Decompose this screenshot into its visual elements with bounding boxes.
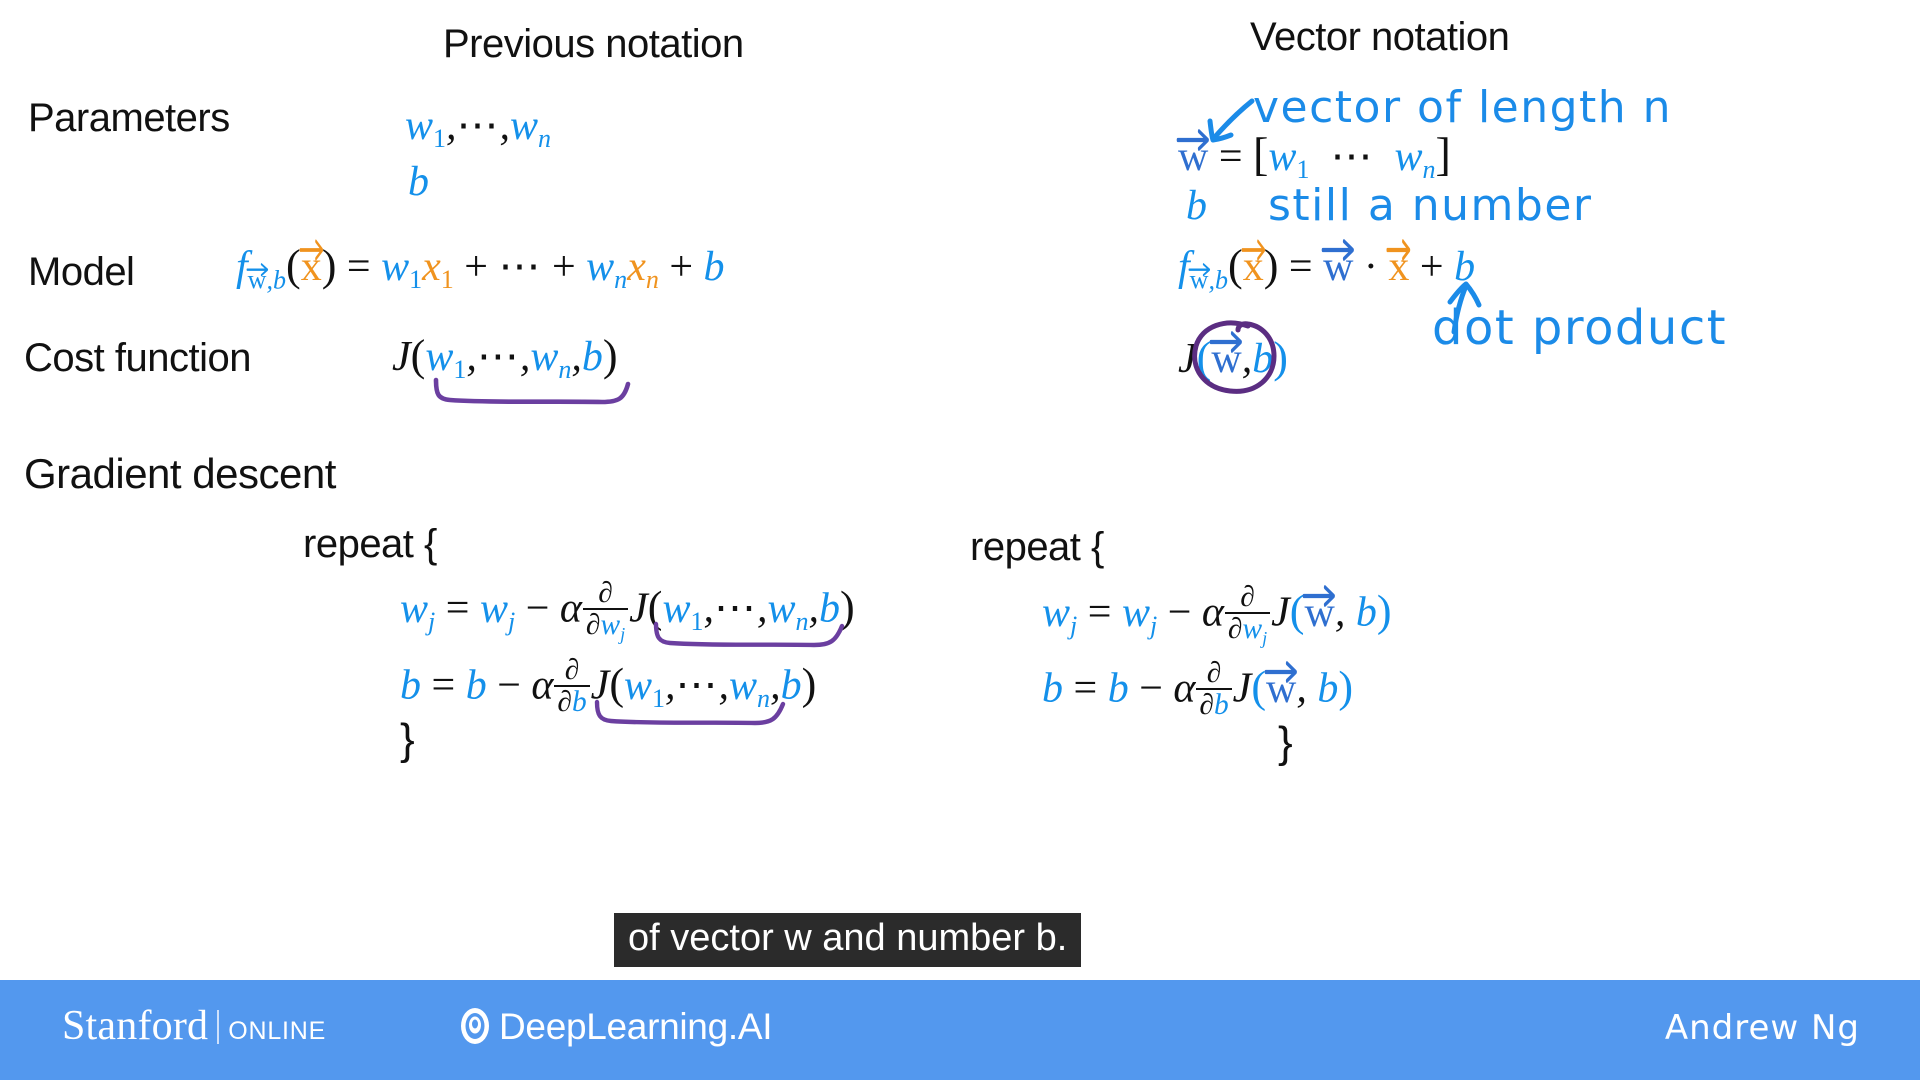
partial-derivative-b-right: ∂∂b bbox=[1196, 658, 1231, 720]
symbol-x-vector: x bbox=[301, 244, 322, 290]
slide-canvas: Previous notation Vector notation Parame… bbox=[0, 0, 1920, 1080]
repeat-open-right: repeat { bbox=[970, 525, 1104, 570]
logo-divider bbox=[217, 1010, 219, 1044]
math-left-parameters-b: b bbox=[408, 158, 429, 206]
handwriting-still-a-number: still a number bbox=[1268, 180, 1593, 231]
cost-w-vector: w bbox=[1211, 336, 1241, 382]
presenter-name: Andrew Ng bbox=[1665, 1008, 1860, 1048]
subscript-w-vector-b: w,b bbox=[248, 264, 286, 296]
math-left-parameters-w: w1,⋯,wn bbox=[405, 100, 551, 154]
math-right-parameters-w: w = [w1 ⋯ wn] bbox=[1178, 128, 1451, 185]
math-right-model: fw,b(x) = w · x + b bbox=[1178, 240, 1475, 295]
vector-arrow-w: w bbox=[248, 264, 267, 296]
handwriting-dot-product: dot product bbox=[1432, 300, 1727, 356]
dot-product-operator: · bbox=[1364, 244, 1378, 290]
row-label-parameters: Parameters bbox=[28, 96, 230, 141]
deeplearning-circles-icon bbox=[455, 1006, 495, 1055]
cost-b: b bbox=[582, 334, 603, 380]
term-x1: x1 bbox=[422, 244, 454, 290]
symbol-alpha: α bbox=[560, 586, 582, 632]
model-x-vector: x bbox=[1388, 244, 1409, 290]
row-label-cost-function: Cost function bbox=[24, 336, 251, 381]
repeat-close-right: } bbox=[1278, 718, 1293, 768]
footer-bar: StanfordONLINE DeepLearning.AI Andrew Ng bbox=[0, 980, 1920, 1080]
gd-b-lhs: b bbox=[400, 663, 421, 709]
handwriting-vector-of-length-n: vector of length n bbox=[1253, 82, 1672, 133]
column-heading-vector-notation: Vector notation bbox=[1250, 15, 1509, 60]
math-left-gd-b: b = b − α∂∂bJ(w1,⋯,wn,b) bbox=[400, 655, 816, 717]
math-right-gd-b: b = b − α∂∂bJ(w, b) bbox=[1042, 658, 1353, 720]
repeat-open-left: repeat { bbox=[303, 522, 437, 567]
model-w-vector: w bbox=[1323, 244, 1353, 290]
cost-w1: w1 bbox=[425, 334, 466, 380]
repeat-close-left: } bbox=[400, 715, 415, 765]
subtitle-caption: of vector w and number b. bbox=[614, 913, 1081, 967]
gd-wj-lhs: wj bbox=[400, 586, 435, 632]
term-b: b bbox=[704, 244, 725, 290]
math-right-parameters-b: b bbox=[1186, 182, 1207, 230]
deeplearning-wordmark: DeepLearning.AI bbox=[499, 1006, 772, 1047]
stanford-online-logo: StanfordONLINE bbox=[62, 1002, 326, 1050]
term-xn: xn bbox=[627, 244, 659, 290]
gd-wj-rhs: wj bbox=[480, 586, 515, 632]
cost-wn: wn bbox=[530, 334, 571, 380]
math-left-cost: J(w1,⋯,wn,b) bbox=[392, 330, 618, 385]
label-gradient-descent: Gradient descent bbox=[24, 450, 336, 498]
symbol-w1: w1 bbox=[405, 103, 446, 149]
stanford-wordmark: Stanford bbox=[62, 1003, 208, 1049]
column-heading-previous-notation: Previous notation bbox=[443, 22, 744, 67]
math-left-model: fw,b(x) = w1x1 + ⋯ + wnxn + b bbox=[236, 240, 725, 295]
partial-derivative-b: ∂∂b bbox=[554, 655, 589, 717]
math-right-cost: J(w,b) bbox=[1178, 332, 1288, 383]
symbol-J: J bbox=[392, 334, 411, 380]
symbol-f: f bbox=[236, 244, 248, 290]
symbol-wn: wn bbox=[510, 103, 551, 149]
gd-b-rhs: b bbox=[466, 663, 487, 709]
symbol-w-vector: w bbox=[1178, 134, 1208, 180]
row-label-model: Model bbox=[28, 250, 134, 295]
online-wordmark: ONLINE bbox=[228, 1017, 326, 1045]
term-wn: wn bbox=[586, 244, 627, 290]
partial-derivative-wj: ∂∂wj bbox=[583, 578, 628, 643]
math-left-gd-w: wj = wj − α∂∂wjJ(w1,⋯,wn,b) bbox=[400, 578, 855, 643]
deeplearning-ai-logo: DeepLearning.AI bbox=[455, 1006, 772, 1055]
term-w1: w1 bbox=[381, 244, 422, 290]
math-right-gd-w: wj = wj − α∂∂wjJ(w, b) bbox=[1042, 582, 1392, 647]
partial-derivative-wj-right: ∂∂wj bbox=[1225, 582, 1270, 647]
